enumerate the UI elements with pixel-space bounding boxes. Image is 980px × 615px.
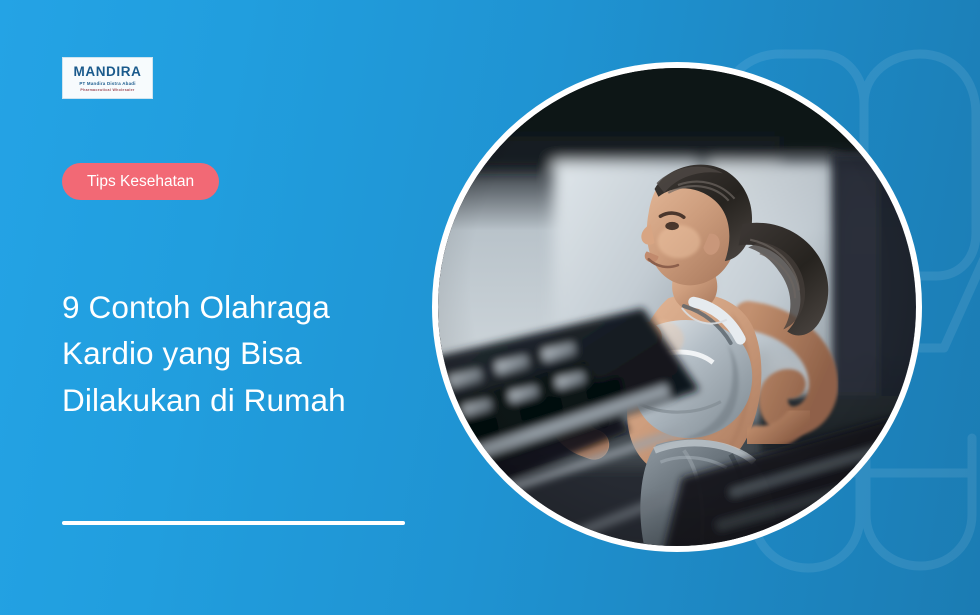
category-badge: Tips Kesehatan: [62, 163, 219, 200]
brand-logo: MANDIRA PT Mandira Distra Abadi Pharmace…: [62, 57, 153, 99]
page-title: 9 Contoh Olahraga Kardio yang Bisa Dilak…: [62, 284, 422, 423]
hero-photo-image: [438, 68, 916, 546]
brand-wordmark: MANDIRA: [74, 65, 142, 79]
divider: [62, 521, 405, 525]
hero-photo: [432, 62, 922, 552]
health-tips-banner: MANDIRA PT Mandira Distra Abadi Pharmace…: [0, 0, 980, 615]
brand-company-name: PT Mandira Distra Abadi: [79, 82, 135, 86]
brand-tagline: Pharmaceutical Wholesaler: [80, 89, 134, 93]
page-title-line-1: 9 Contoh Olahraga: [62, 284, 422, 330]
page-title-line-3: Dilakukan di Rumah: [62, 377, 422, 423]
page-title-line-2: Kardio yang Bisa: [62, 330, 422, 376]
